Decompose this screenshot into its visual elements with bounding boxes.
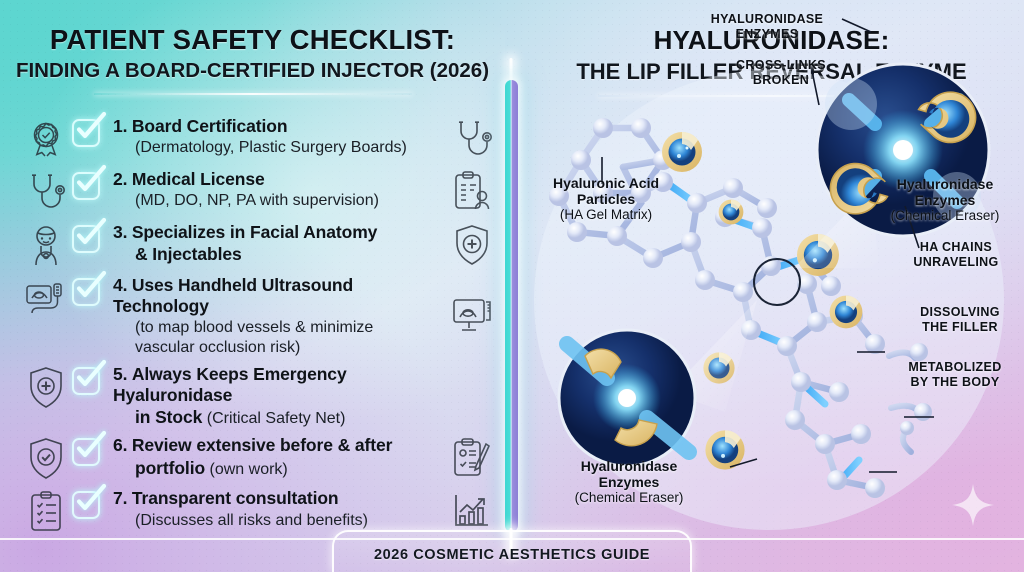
left-panel-heading: PATIENT SAFETY CHECKLIST: FINDING A BOAR… (0, 24, 505, 95)
shield-check-icon (24, 436, 68, 480)
ultrasound-probe-icon (24, 276, 68, 320)
item-6-number: 6. (113, 435, 127, 455)
item-6-title2: portfolio (135, 458, 205, 478)
item-5-title: Always Keeps Emergency Hyaluronidase (113, 364, 347, 405)
callout-dissolving: DISSOLVING THE FILLER (897, 305, 1023, 334)
item-3-title: Specializes in Facial Anatomy (132, 222, 377, 242)
item-1-detail: (Dermatology, Plastic Surgery Boards) (135, 139, 407, 156)
item-2-detail: (MD, DO, NP, PA with supervision) (135, 192, 379, 209)
heading-divider-rule (94, 93, 412, 95)
callout-ha-chains: HA CHAINS UNRAVELING (891, 240, 1021, 269)
magnified-lens-bottom (559, 330, 695, 466)
checklist-item-2-text: 2. Medical License (MD, DO, NP, PA with … (113, 169, 443, 210)
item-7-title: Transparent consultation (132, 488, 339, 508)
checklist-item-6-text: 6. Review extensive before & after portf… (113, 435, 443, 478)
checkbox-6[interactable] (72, 438, 102, 468)
callout-enzymes-bottom: Hyaluronidase Enzymes (Chemical Eraser) (539, 458, 719, 506)
shield-cross-icon (449, 222, 495, 268)
shield-cross-icon (24, 365, 68, 409)
award-ribbon-icon (24, 117, 68, 161)
item-1-number: 1. (113, 116, 127, 136)
callout-metabolized: METABOLIZED BY THE BODY (887, 360, 1023, 389)
checkbox-5[interactable] (72, 367, 102, 397)
checklist-item-5-text: 5. Always Keeps Emergency Hyaluronidase … (113, 364, 443, 429)
checkbox-1[interactable] (72, 119, 102, 149)
footer-label: 2026 COSMETIC AESTHETICS GUIDE (374, 547, 650, 563)
checklist-item-6[interactable]: 6. Review extensive before & after portf… (0, 435, 505, 481)
right-panel: HYALURONIDASE: THE LIP FILLER REVERSAL E… (519, 0, 1024, 572)
item-5-detail: (Critical Safety Net) (207, 410, 346, 427)
infographic-canvas: PATIENT SAFETY CHECKLIST: FINDING A BOAR… (0, 0, 1024, 572)
checklist-item-1-text: 1. Board Certification (Dermatology, Pla… (113, 116, 443, 157)
callout-ha-particles: Hyaluronic Acid Particles (HA Gel Matrix… (523, 175, 689, 223)
checklist-item-3-text: 3. Specializes in Facial Anatomy & Injec… (113, 222, 443, 265)
item-5-number: 5. (113, 364, 127, 384)
left-panel: PATIENT SAFETY CHECKLIST: FINDING A BOAR… (0, 0, 505, 572)
item-6-title: Review extensive before & after (132, 435, 393, 455)
sparkle-icon (950, 482, 996, 528)
item-7-detail: (Discusses all risks and benefits) (135, 512, 368, 529)
checklist-item-5[interactable]: 5. Always Keeps Emergency Hyaluronidase … (0, 364, 505, 429)
clipboard-pencil-icon (449, 435, 495, 481)
item-2-title: Medical License (132, 169, 265, 189)
checkbox-4[interactable] (72, 278, 102, 308)
clipboard-list-icon (24, 489, 68, 533)
checkbox-7[interactable] (72, 491, 102, 521)
hyaluronidase-illustration: HYALURONIDASE ENZYMES CROSS-LINKS BROKEN… (519, 0, 1024, 572)
item-4-detail: (to map blood vessels & minimize (135, 319, 373, 336)
ultrasound-monitor-icon (449, 293, 495, 339)
checklist-item-4[interactable]: 4. Uses Handheld Ultrasound Technology (… (0, 275, 505, 357)
left-title-line1: PATIENT SAFETY CHECKLIST: (0, 24, 505, 56)
item-3-title2: & Injectables (135, 244, 242, 264)
stethoscope-icon (24, 170, 68, 214)
callout-enzymes-top: HYALURONIDASE ENZYMES (687, 12, 847, 41)
checklist-item-2[interactable]: 2. Medical License (MD, DO, NP, PA with … (0, 169, 505, 215)
item-4-detail2: vascular occlusion risk) (135, 339, 300, 356)
item-4-title: Uses Handheld Ultrasound Technology (113, 275, 353, 316)
checklist-item-7-text: 7. Transparent consultation (Discusses a… (113, 488, 443, 529)
item-7-number: 7. (113, 488, 127, 508)
left-title-line2: FINDING A BOARD-CERTIFIED INJECTOR (2026… (0, 59, 505, 83)
checkbox-3[interactable] (72, 225, 102, 255)
item-2-number: 2. (113, 169, 127, 189)
checklist-item-1[interactable]: 1. Board Certification (Dermatology, Pla… (0, 116, 505, 162)
doctor-icon (24, 223, 68, 267)
item-3-number: 3. (113, 222, 127, 242)
callout-enzymes-right: Hyaluronidase Enzymes (Chemical Eraser) (864, 176, 1024, 224)
callout-cross-links: CROSS-LINKS BROKEN (711, 58, 851, 87)
footer-bar: 2026 COSMETIC AESTHETICS GUIDE (0, 528, 1024, 572)
safety-checklist: 1. Board Certification (Dermatology, Pla… (0, 116, 505, 541)
clipboard-person-icon (449, 169, 495, 215)
item-4-number: 4. (113, 275, 127, 295)
stethoscope-icon (449, 116, 495, 162)
checkbox-2[interactable] (72, 172, 102, 202)
checklist-item-4-text: 4. Uses Handheld Ultrasound Technology (… (113, 275, 443, 357)
item-5-title2: in Stock (135, 407, 202, 427)
checklist-item-3[interactable]: 3. Specializes in Facial Anatomy & Injec… (0, 222, 505, 268)
item-1-title: Board Certification (132, 116, 288, 136)
item-6-detail: (own work) (210, 461, 288, 478)
